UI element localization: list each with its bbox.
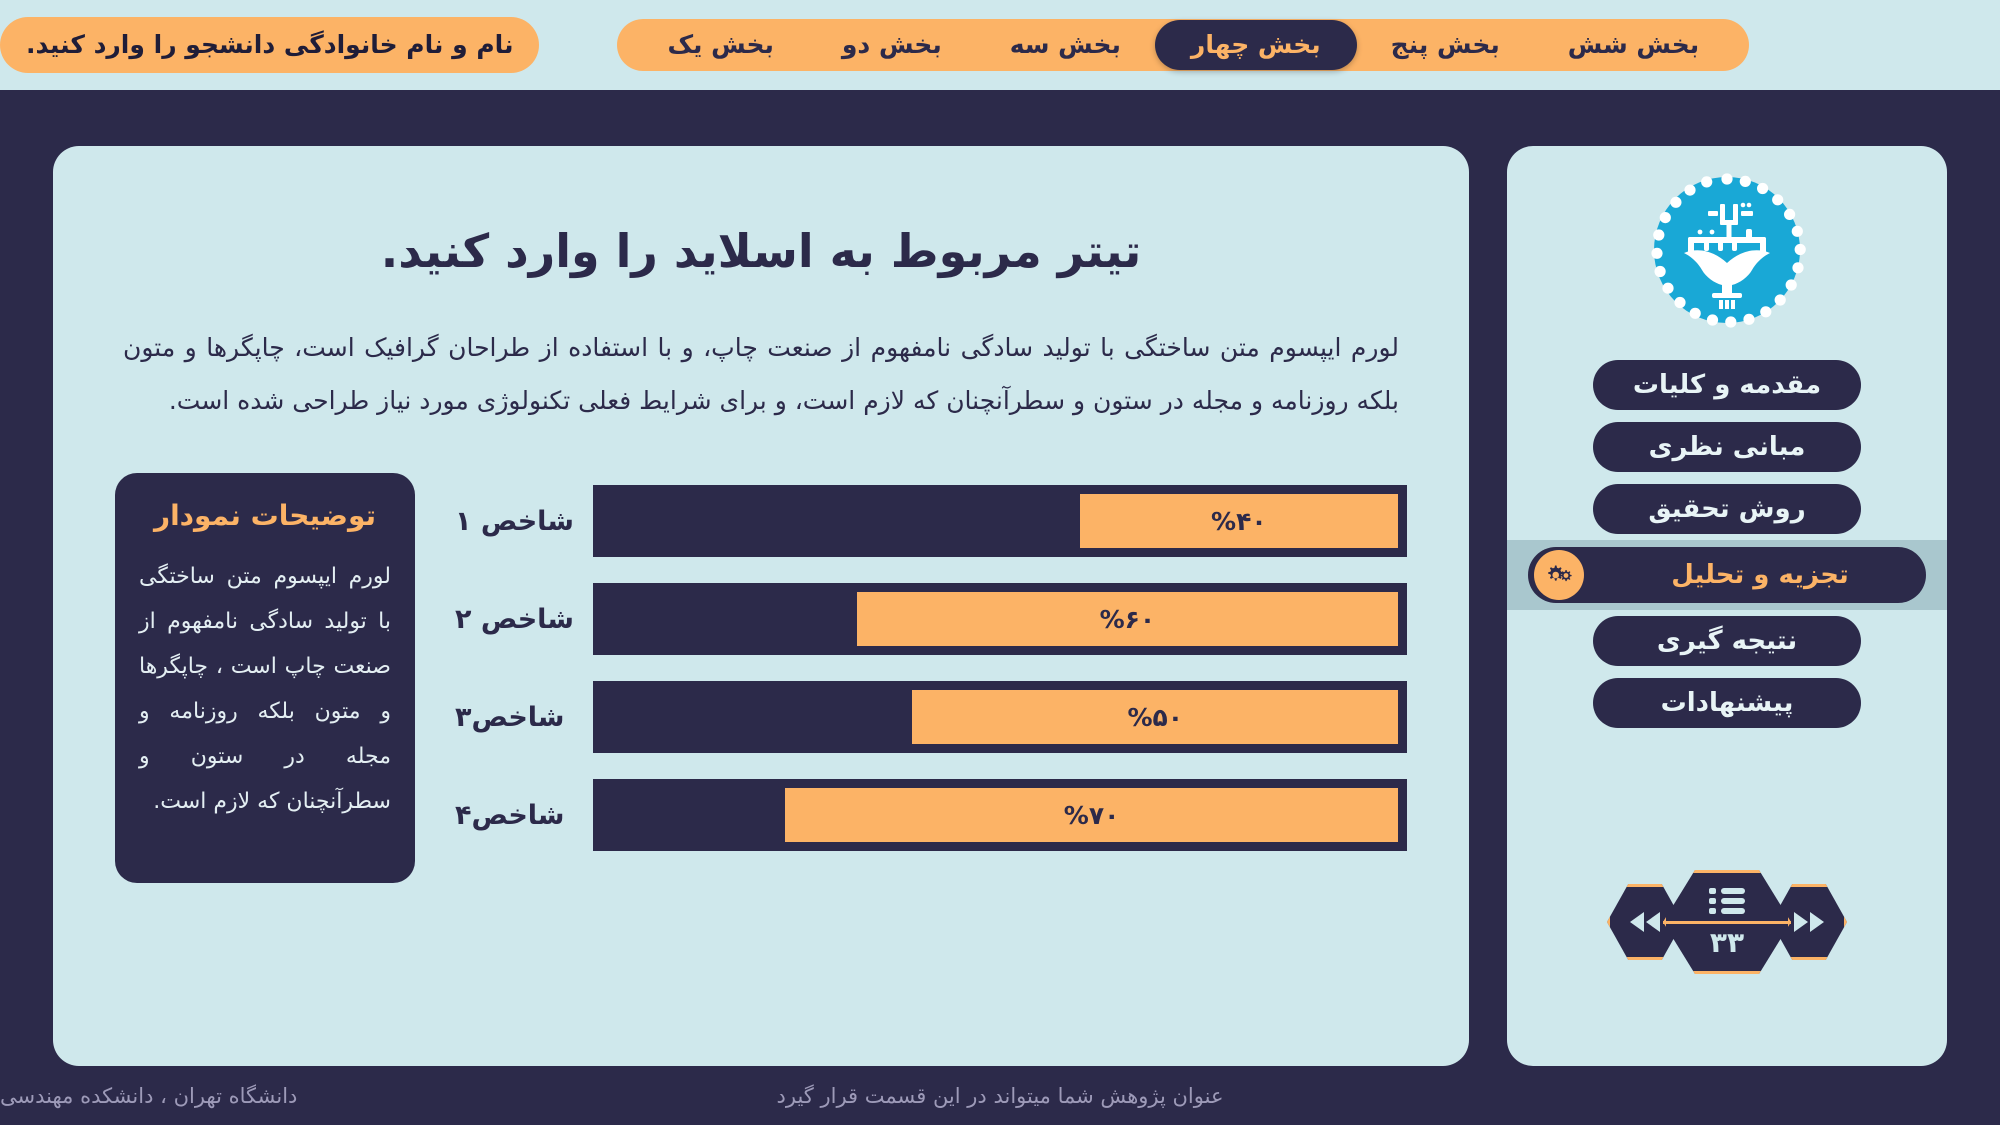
sidebar-item-label: تجزیه و تحلیل [1671,560,1848,590]
sidebar-item-method[interactable]: روش تحقیق [1507,478,1947,540]
tab-section-5[interactable]: بخش پنج [1357,23,1534,67]
sidebar-item-label: مبانی نظری [1649,432,1806,462]
bar-fill: %۷۰ [785,788,1398,842]
sidebar-item-label: مقدمه و کلیات [1633,370,1821,400]
sidebar-item-conclusion-pill[interactable]: نتیجه گیری [1593,616,1861,666]
chart-description-title: توضیحات نمودار [139,499,391,532]
footer-institution: دانشگاه تهران ، دانشکده مهندسی [0,1084,297,1108]
tab-section-1[interactable]: بخش یک [633,23,807,67]
list-icon[interactable] [1607,886,1847,916]
bar-track: %۴۰ [593,485,1407,557]
bar-chart: شاخص ۱ %۴۰ شاخص ۲ %۶۰ شاخص۳ %۵۰ [455,473,1407,851]
gears-icon [1534,550,1584,600]
sidebar-item-theory-pill[interactable]: مبانی نظری [1593,422,1861,472]
tehran-university-logo-icon [1648,171,1806,329]
top-bar: نام و نام خانوادگی دانشجو را وارد کنید. … [0,0,2000,90]
sidebar-item-label: پیشنهادات [1661,688,1794,718]
main-content-panel: تیتر مربوط به اسلاید را وارد کنید. لورم … [53,146,1469,1066]
bar-row: شاخص۳ %۵۰ [455,681,1407,753]
bar-track: %۵۰ [593,681,1407,753]
sidebar-item-theory[interactable]: مبانی نظری [1507,416,1947,478]
tab-section-2[interactable]: بخش دو [808,23,976,67]
bar-fill: %۵۰ [912,690,1398,744]
sidebar-item-intro-pill[interactable]: مقدمه و کلیات [1593,360,1861,410]
sidebar-item-method-pill[interactable]: روش تحقیق [1593,484,1861,534]
sidebar-item-label: نتیجه گیری [1657,626,1797,656]
university-logo-wrap [1507,160,1947,340]
sidebar-item-conclusion[interactable]: نتیجه گیری [1507,610,1947,672]
sidebar: مقدمه و کلیات مبانی نظری روش تحقیق تجزیه… [1507,146,1947,1066]
bar-track: %۶۰ [593,583,1407,655]
section-tabs: بخش شش بخش پنج بخش چهار بخش سه بخش دو بخ… [617,19,1749,71]
student-name-field[interactable]: نام و نام خانوادگی دانشجو را وارد کنید. [0,17,539,73]
sidebar-item-analysis[interactable]: تجزیه و تحلیل [1507,540,1947,610]
sidebar-item-suggestions[interactable]: پیشنهادات [1507,672,1947,734]
presentation-slide: نام و نام خانوادگی دانشجو را وارد کنید. … [0,0,2000,1125]
tab-section-4[interactable]: بخش چهار [1155,20,1357,70]
page-number: ۳۳ [1607,926,1847,959]
bar-track: %۷۰ [593,779,1407,851]
bar-label: شاخص۳ [455,702,575,733]
page-title: تیتر مربوط به اسلاید را وارد کنید. [105,224,1417,278]
footer-research-title: عنوان پژوهش شما میتواند در این قسمت قرار… [0,1084,2000,1108]
sidebar-item-suggestions-pill[interactable]: پیشنهادات [1593,678,1861,728]
slide-pager: ۳۳ [1507,870,1947,974]
chart-description-card: توضیحات نمودار لورم ایپسوم متن ساختگی با… [115,473,415,883]
footer: دانشگاه تهران ، دانشکده مهندسی عنوان پژو… [0,1066,2000,1125]
bar-row: شاخص ۱ %۴۰ [455,485,1407,557]
sidebar-item-label: روش تحقیق [1648,494,1805,524]
bar-fill: %۴۰ [1080,494,1398,548]
bar-label: شاخص ۱ [455,506,575,537]
bar-row: شاخص۴ %۷۰ [455,779,1407,851]
chart-section: توضیحات نمودار لورم ایپسوم متن ساختگی با… [105,473,1417,883]
sidebar-item-intro[interactable]: مقدمه و کلیات [1507,354,1947,416]
sidebar-menu: مقدمه و کلیات مبانی نظری روش تحقیق تجزیه… [1507,354,1947,734]
pager-divider [1663,921,1791,924]
bar-row: شاخص ۲ %۶۰ [455,583,1407,655]
tab-section-6[interactable]: بخش شش [1534,23,1733,67]
bar-label: شاخص ۲ [455,604,575,635]
bar-label: شاخص۴ [455,800,575,831]
sidebar-item-analysis-pill[interactable]: تجزیه و تحلیل [1528,547,1926,603]
chart-description-text: لورم ایپسوم متن ساختگی با تولید سادگی نا… [139,554,391,825]
bar-fill: %۶۰ [857,592,1398,646]
tab-section-3[interactable]: بخش سه [976,23,1155,67]
slide-body-text: لورم ایپسوم متن ساختگی با تولید سادگی نا… [105,322,1417,427]
